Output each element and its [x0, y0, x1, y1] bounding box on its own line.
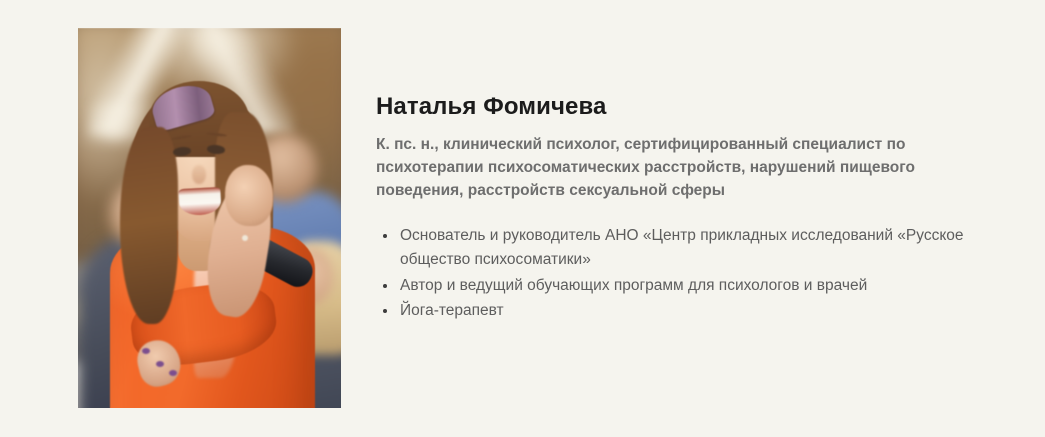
profile-credentials: К. пс. н., клинический психолог, сертифи…: [376, 120, 982, 202]
photo-canvas: [78, 28, 341, 408]
subject-hand-holding-microphone: [225, 165, 272, 226]
profile-card: Наталья Фомичева К. пс. н., клинический …: [0, 0, 1045, 437]
subject-nose: [192, 165, 205, 184]
page-title: Наталья Фомичева: [376, 28, 996, 120]
list-item: Йога-терапевт: [376, 299, 978, 323]
profile-text-column: Наталья Фомичева К. пс. н., клинический …: [376, 28, 996, 324]
profile-photo: [78, 28, 341, 408]
achievements-list: Основатель и руководитель АНО «Центр при…: [376, 202, 978, 323]
list-item: Автор и ведущий обучающих программ для п…: [376, 274, 978, 298]
subject-nail: [156, 361, 164, 367]
list-item: Основатель и руководитель АНО «Центр при…: [376, 224, 978, 272]
subject-hair-strand-left: [120, 127, 178, 325]
subject-nail: [169, 370, 177, 376]
